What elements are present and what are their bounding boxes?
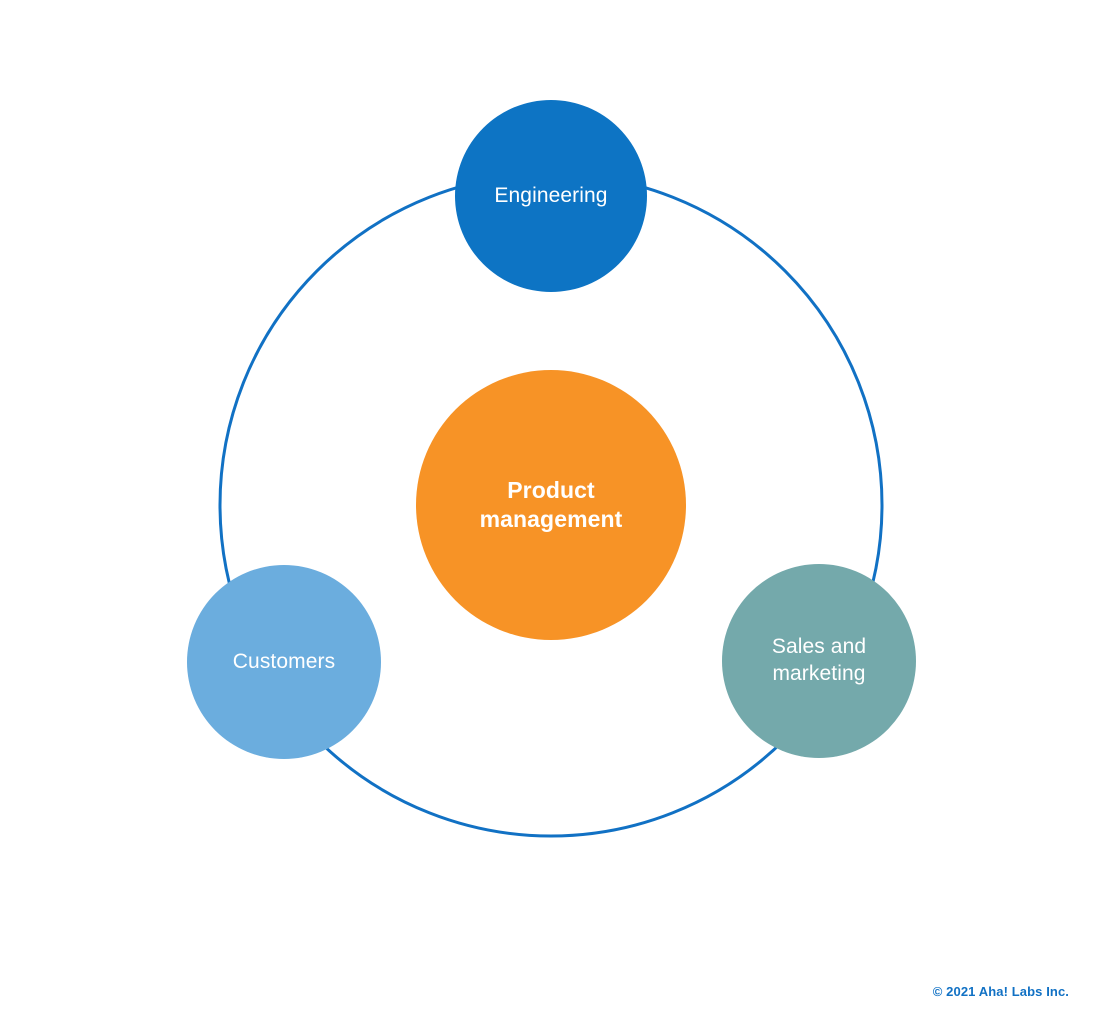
diagram-canvas: Product management Engineering Customers… [0, 0, 1100, 1024]
copyright-notice: © 2021 Aha! Labs Inc. [933, 984, 1069, 999]
satellite-label-sales-and-marketing: Sales and marketing [772, 634, 866, 688]
satellite-label-box-sales-and-marketing: Sales and marketing [722, 564, 916, 758]
core-label: Product management [480, 476, 623, 535]
satellite-label-customers: Customers [233, 649, 335, 676]
satellite-label-box-customers: Customers [187, 565, 381, 759]
satellite-label-engineering: Engineering [494, 183, 607, 210]
core-label-box: Product management [416, 370, 686, 640]
satellite-label-box-engineering: Engineering [455, 100, 647, 292]
